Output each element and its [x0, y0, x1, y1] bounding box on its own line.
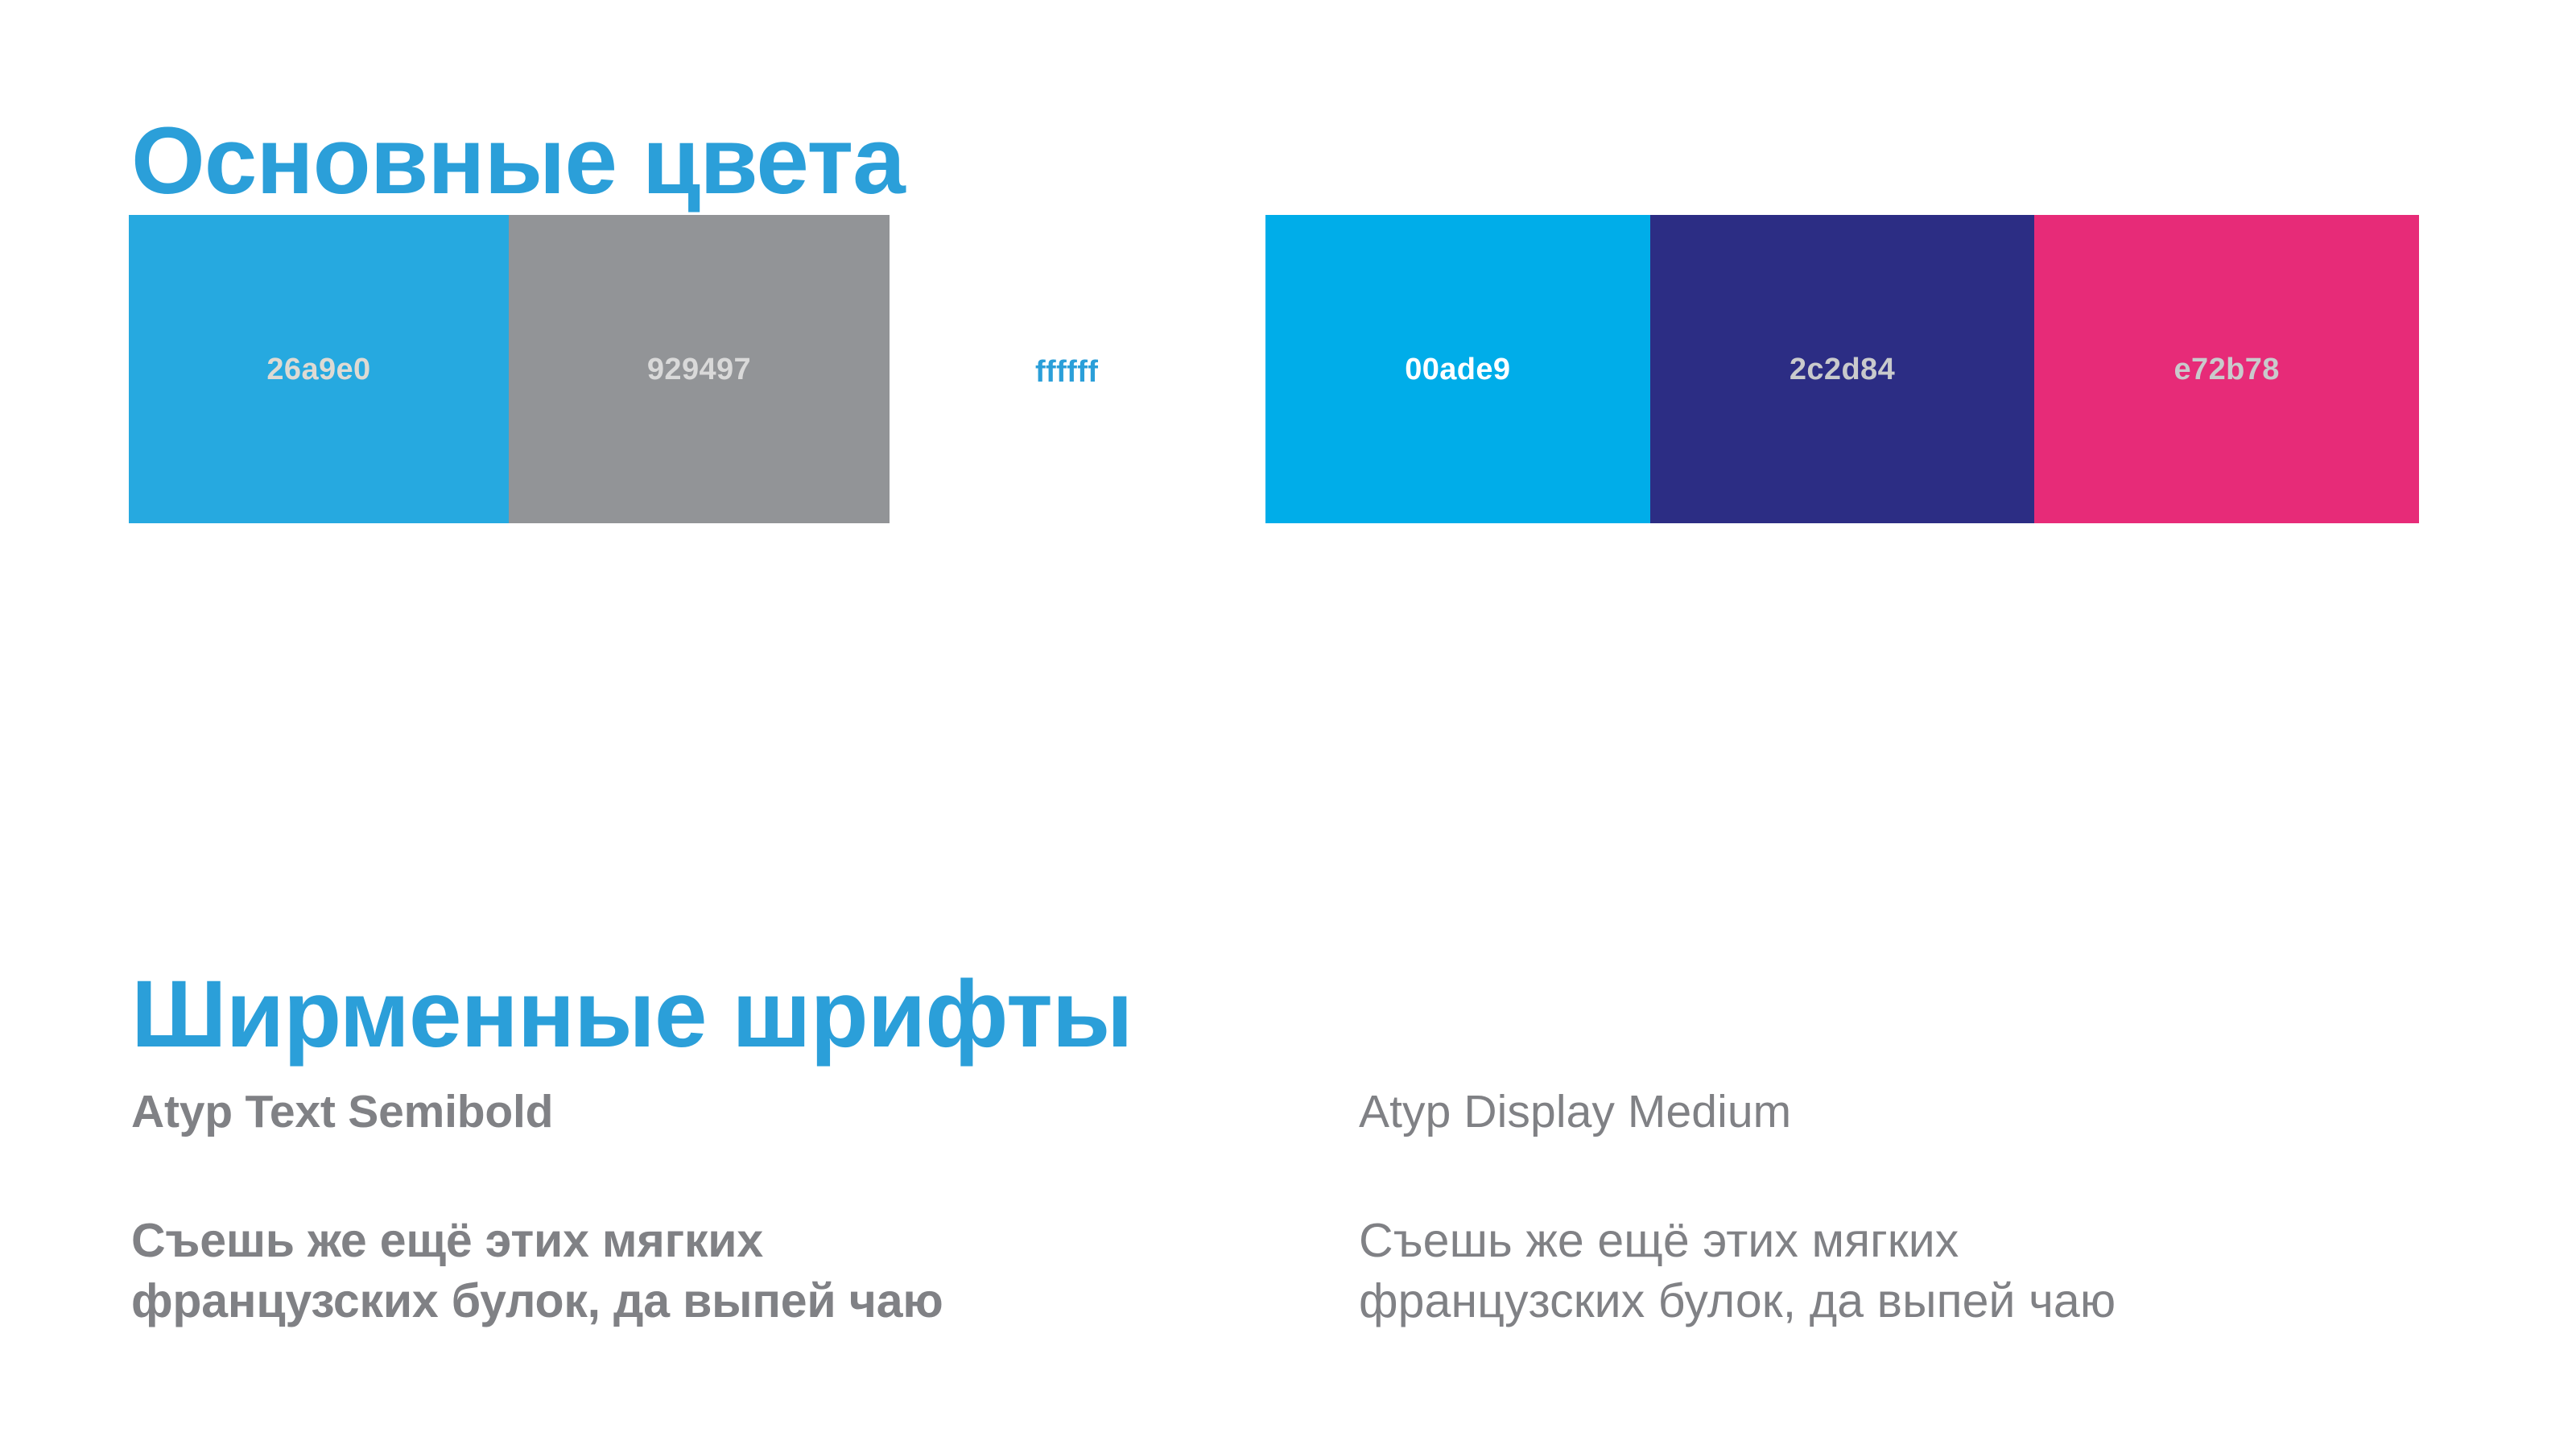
brand-guidelines-slide: Основные цвета 26a9e0 929497 ffffff 00ad…: [0, 0, 2576, 1449]
typography-specimen-text: Atyp Text Semibold Съешь же ещё этих мяг…: [131, 1088, 1258, 1332]
page-title-fonts: Ширменные шрифты: [131, 967, 1133, 1062]
typeface-sample-text: Съешь же ещё этих мягких французских бул…: [1359, 1211, 2220, 1332]
color-swatch-label: 26a9e0: [266, 354, 370, 385]
typeface-sample-text: Съешь же ещё этих мягких французских бул…: [131, 1211, 993, 1332]
color-swatch-group-primary: 26a9e0 929497: [129, 215, 890, 523]
color-swatch-ffffff[interactable]: ffffff: [1035, 353, 1180, 391]
color-swatch-label: 2c2d84: [1790, 354, 1895, 385]
color-swatch-label: 00ade9: [1405, 354, 1510, 385]
color-swatch-label: e72b78: [2174, 354, 2280, 385]
typography-specimen-display: Atyp Display Medium Съешь же ещё этих мя…: [1359, 1088, 2526, 1332]
typeface-name: Atyp Text Semibold: [131, 1088, 1258, 1137]
typeface-name: Atyp Display Medium: [1359, 1088, 2526, 1137]
color-swatch-2c2d84[interactable]: 2c2d84: [1650, 215, 2035, 523]
color-swatch-26a9e0[interactable]: 26a9e0: [129, 215, 509, 523]
color-swatch-group-secondary: 00ade9 2c2d84 e72b78: [1265, 215, 2419, 523]
color-swatch-label: 929497: [647, 354, 751, 385]
page-title-colors: Основные цвета: [131, 114, 905, 208]
color-swatch-929497[interactable]: 929497: [509, 215, 890, 523]
color-swatch-e72b78[interactable]: e72b78: [2034, 215, 2419, 523]
color-swatch-00ade9[interactable]: 00ade9: [1265, 215, 1650, 523]
color-swatch-label: ffffff: [1035, 357, 1098, 387]
